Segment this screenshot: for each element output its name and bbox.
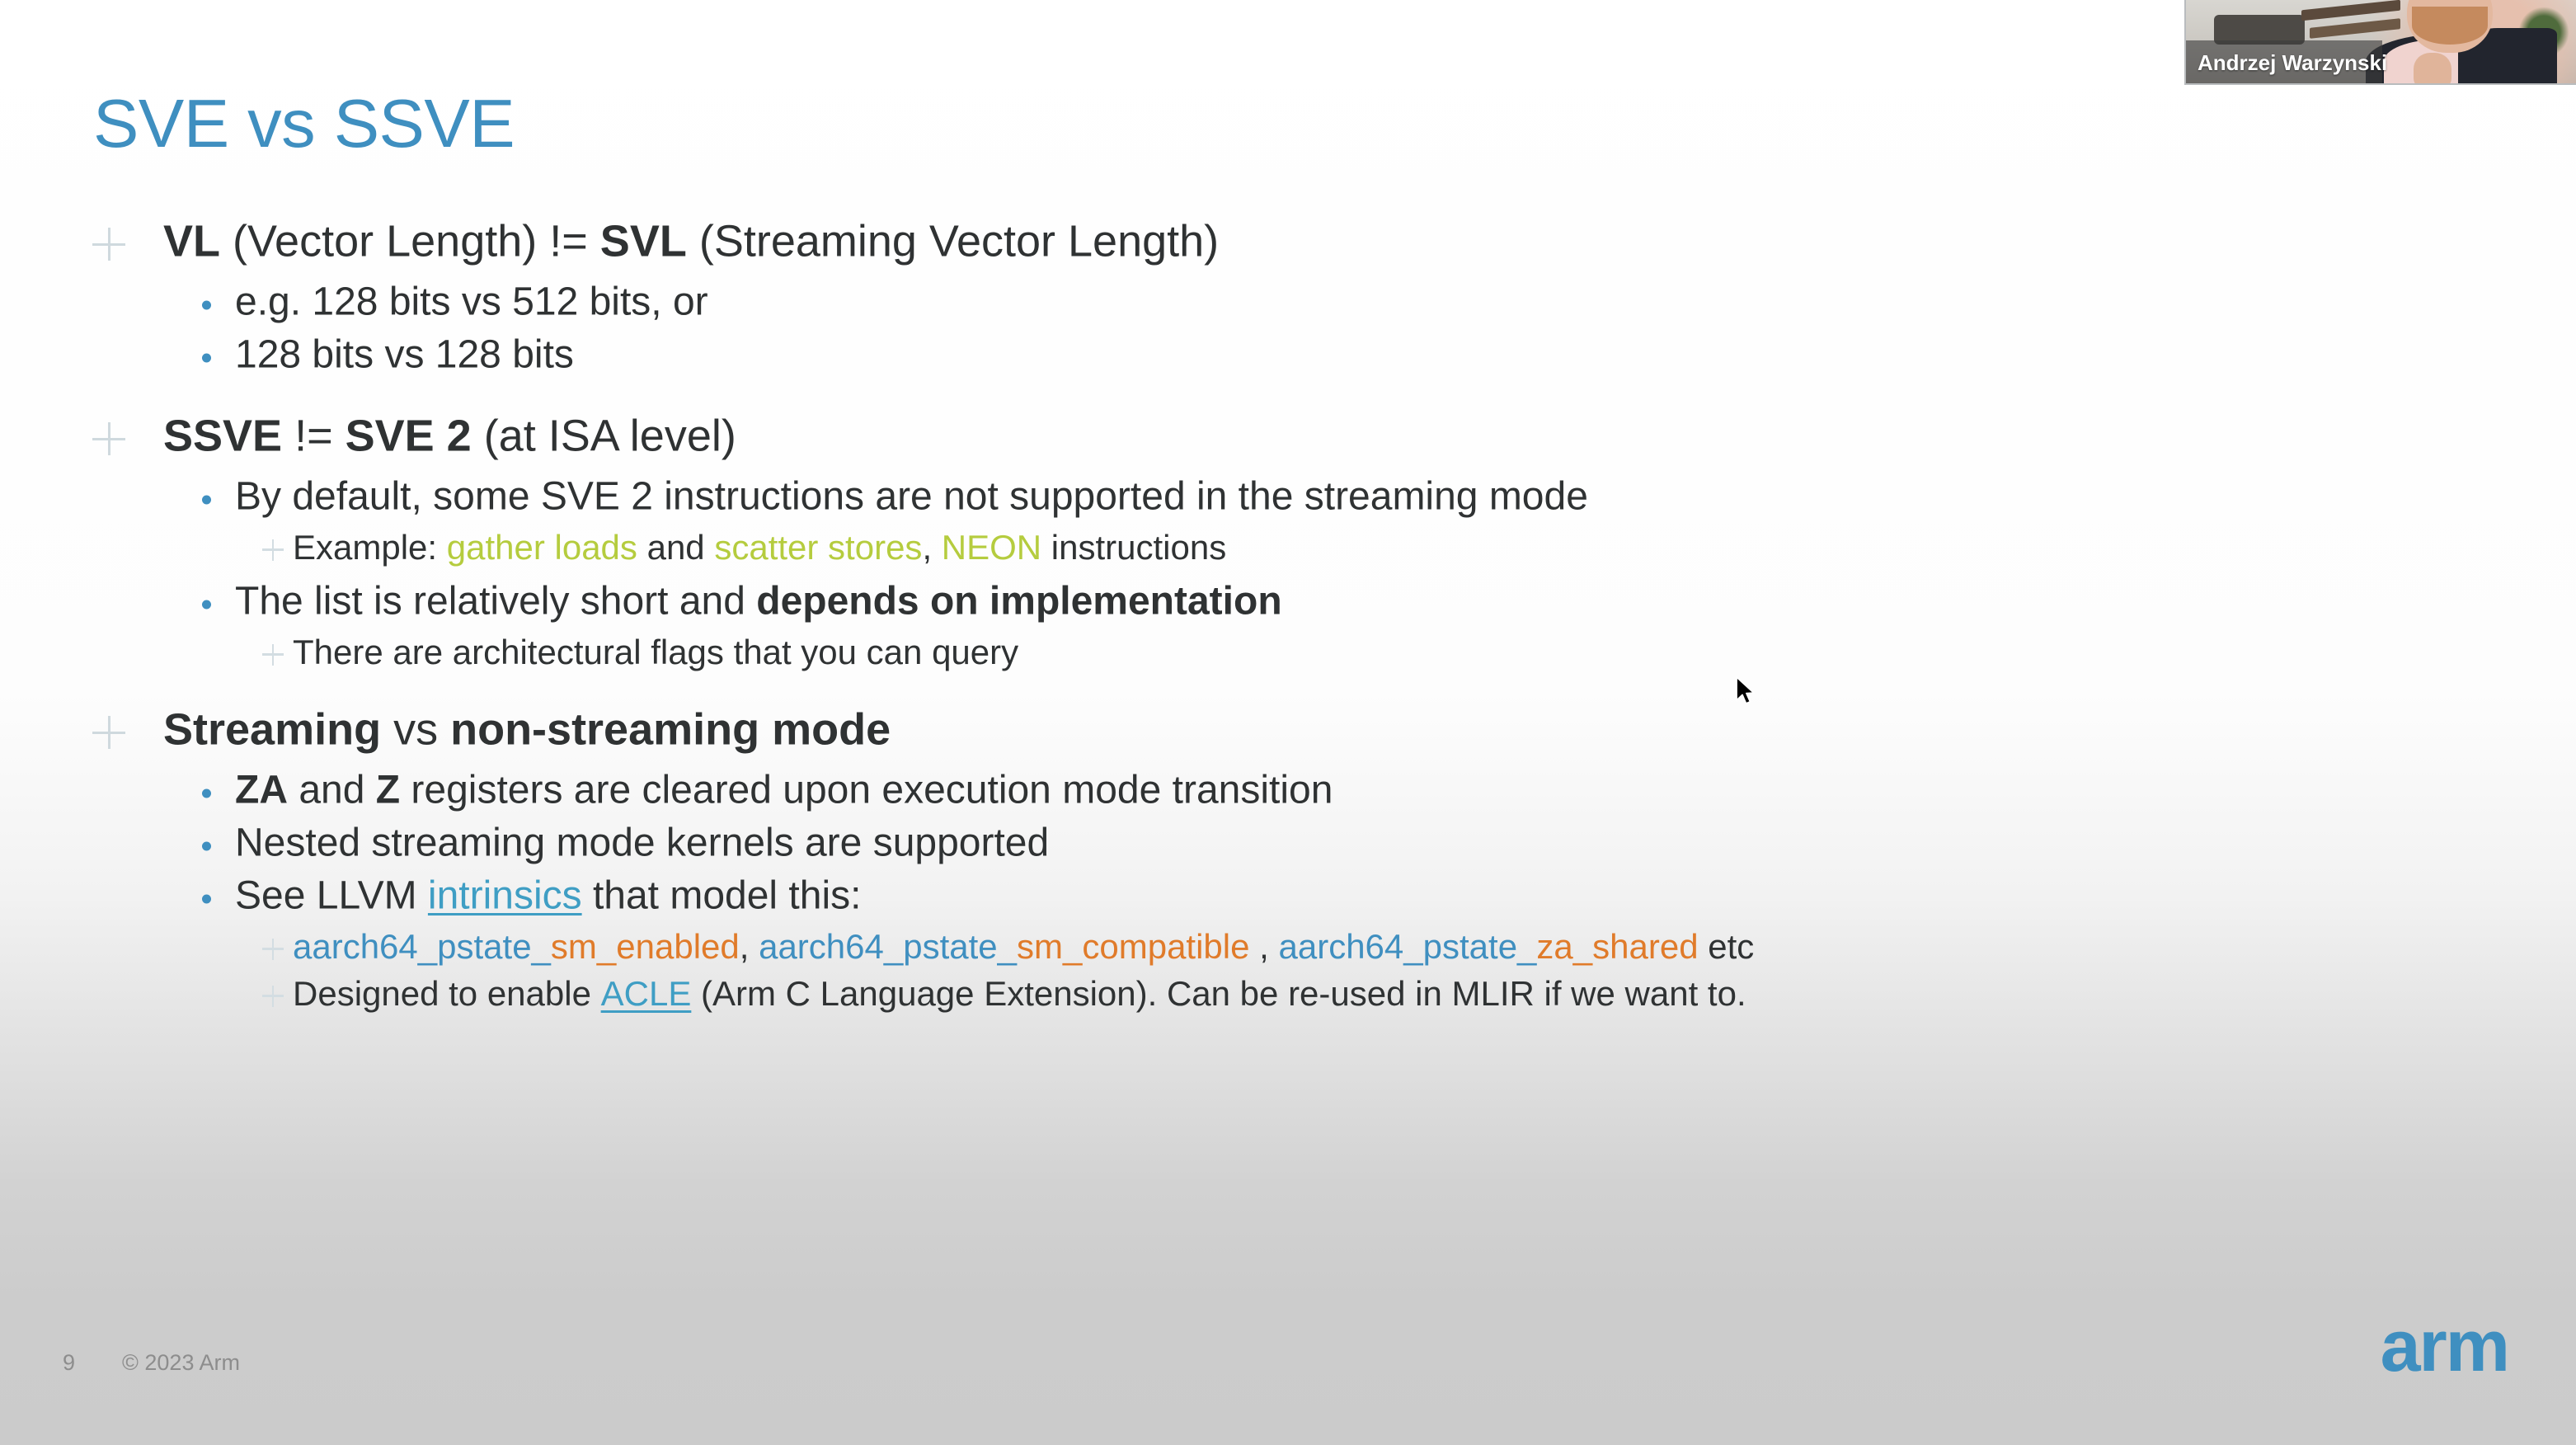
plus-bullet-small-icon — [262, 539, 284, 561]
bullet-text-z-register: Z — [376, 768, 400, 812]
plus-bullet-icon — [92, 422, 125, 455]
bullet-text-arch-flags: There are architectural flags that you c… — [293, 633, 1018, 671]
bullet-text-sve2: SVE 2 — [346, 412, 472, 461]
bullet-text-svl-abbr: SVL — [600, 217, 687, 266]
bullet-level3-acle: Designed to enable ACLE (Arm C Language … — [0, 974, 2576, 1018]
participant-name: Andrzej Warzynski — [2198, 50, 2387, 76]
arm-logo: arm — [2381, 1310, 2508, 1382]
bullet-text-eg-128-512: e.g. 128 bits vs 512 bits, or — [235, 280, 708, 323]
intrinsic-suffix-2: sm_compatible — [1017, 927, 1249, 966]
intrinsic-etc: etc — [1699, 927, 1755, 966]
bullet-text-isa-level: (at ISA level) — [472, 412, 736, 461]
intrinsic-suffix-3: za_shared — [1536, 927, 1698, 966]
dot-bullet-icon — [202, 842, 211, 851]
bullet-text-ssve: SSVE — [163, 412, 282, 461]
bullet-text-gather-loads: gather loads — [447, 528, 637, 567]
bullet-text-non-streaming-mode: non-streaming mode — [450, 705, 891, 755]
dot-bullet-icon — [202, 496, 211, 505]
intrinsic-prefix-2: aarch64_pstate_ — [759, 927, 1017, 966]
intrinsic-sep-2: , — [1249, 927, 1278, 966]
bullet-level2-list-short: The list is relatively short and depends… — [0, 580, 2576, 629]
plus-bullet-small-icon — [262, 939, 284, 960]
bullet-text-instructions: instructions — [1041, 528, 1226, 567]
bullet-text-vs: vs — [381, 705, 450, 755]
bullet-level2-example-sizes: e.g. 128 bits vs 512 bits, or — [0, 280, 2576, 330]
dot-bullet-icon — [202, 600, 211, 610]
bullet-text-vl-abbr: VL — [163, 217, 220, 266]
bullet-level3-intrinsic-names: aarch64_pstate_sm_enabled, aarch64_pstat… — [0, 927, 2576, 971]
acle-link[interactable]: ACLE — [601, 974, 692, 1013]
webcam-person-beard — [2412, 7, 2488, 45]
slide-title: SVE vs SSVE — [93, 89, 515, 158]
presentation-slide: SVE vs SSVE VL (Vector Length) != SVL (S… — [0, 0, 2576, 1445]
bullet-text-designed-to-enable: Designed to enable — [293, 974, 601, 1013]
bullet-level2-za-z-cleared: ZA and Z registers are cleared upon exec… — [0, 769, 2576, 818]
intrinsic-prefix-1: aarch64_pstate_ — [293, 927, 551, 966]
slide-body: VL (Vector Length) != SVL (Streaming Vec… — [0, 216, 2576, 1018]
bullet-text-scatter-stores: scatter stores — [714, 528, 922, 567]
plus-bullet-small-icon — [262, 986, 284, 1007]
bullet-text-neon: NEON — [942, 528, 1041, 567]
bullet-text-acle-expansion: (Arm C Language Extension). Can be re-us… — [691, 974, 1746, 1013]
dot-bullet-icon — [202, 354, 211, 363]
dot-bullet-icon — [202, 301, 211, 310]
bullet-text-registers-cleared: registers are cleared upon execution mod… — [400, 768, 1333, 812]
plus-bullet-icon — [92, 228, 125, 261]
copyright-notice: © 2023 Arm — [122, 1350, 240, 1376]
bullet-level1-vl: VL (Vector Length) != SVL (Streaming Vec… — [0, 216, 2576, 272]
bullet-text-and: and — [637, 528, 714, 567]
bullet-text-comma: , — [922, 528, 941, 567]
bullet-text-see-llvm: See LLVM — [235, 873, 428, 917]
bullet-text-128-vs-128: 128 bits vs 128 bits — [235, 332, 574, 376]
bullet-text-streaming: Streaming — [163, 705, 381, 755]
intrinsic-prefix-3: aarch64_pstate_ — [1279, 927, 1537, 966]
bullet-level1-streaming-mode: Streaming vs non-streaming mode — [0, 704, 2576, 760]
bullet-level2-nested-kernels: Nested streaming mode kernels are suppor… — [0, 821, 2576, 871]
bullet-level2-equal-sizes: 128 bits vs 128 bits — [0, 333, 2576, 383]
dot-bullet-icon — [202, 789, 211, 798]
bullet-level3-arch-flags: There are architectural flags that you c… — [0, 633, 2576, 676]
bullet-text-vl-mid: (Vector Length) != — [220, 217, 600, 266]
bullet-level2-default-unsupported: By default, some SVE 2 instructions are … — [0, 475, 2576, 525]
bullet-text-and2: and — [288, 768, 376, 812]
intrinsic-suffix-1: sm_enabled — [551, 927, 740, 966]
bullet-level1-ssve-isa: SSVE != SVE 2 (at ISA level) — [0, 411, 2576, 467]
plus-bullet-small-icon — [262, 644, 284, 666]
intrinsic-sep-1: , — [740, 927, 759, 966]
plus-bullet-icon — [92, 716, 125, 749]
webcam-overlay[interactable]: Andrzej Warzynski — [2184, 0, 2576, 85]
webcam-name-bar: Andrzej Warzynski — [2186, 40, 2382, 83]
bullet-text-default-unsupported: By default, some SVE 2 instructions are … — [235, 474, 1588, 518]
bullet-level2-llvm-intrinsics: See LLVM intrinsics that model this: — [0, 874, 2576, 924]
bullet-text-svl-expansion: (Streaming Vector Length) — [687, 217, 1219, 266]
bullet-text-za-register: ZA — [235, 768, 288, 812]
bullet-text-nested-kernels: Nested streaming mode kernels are suppor… — [235, 821, 1049, 864]
bullet-text-list-short: The list is relatively short and — [235, 579, 756, 623]
webcam-person-hand — [2414, 53, 2451, 85]
bullet-level3-example-instructions: Example: gather loads and scatter stores… — [0, 528, 2576, 572]
bullet-text-depends-impl: depends on implementation — [756, 579, 1281, 623]
intrinsics-link[interactable]: intrinsics — [428, 873, 582, 917]
bullet-text-that-model-this: that model this: — [582, 873, 862, 917]
dot-bullet-icon — [202, 895, 211, 904]
bullet-text-example-label: Example: — [293, 528, 447, 567]
slide-page-number: 9 — [63, 1350, 75, 1376]
bullet-text-neq: != — [282, 412, 346, 461]
